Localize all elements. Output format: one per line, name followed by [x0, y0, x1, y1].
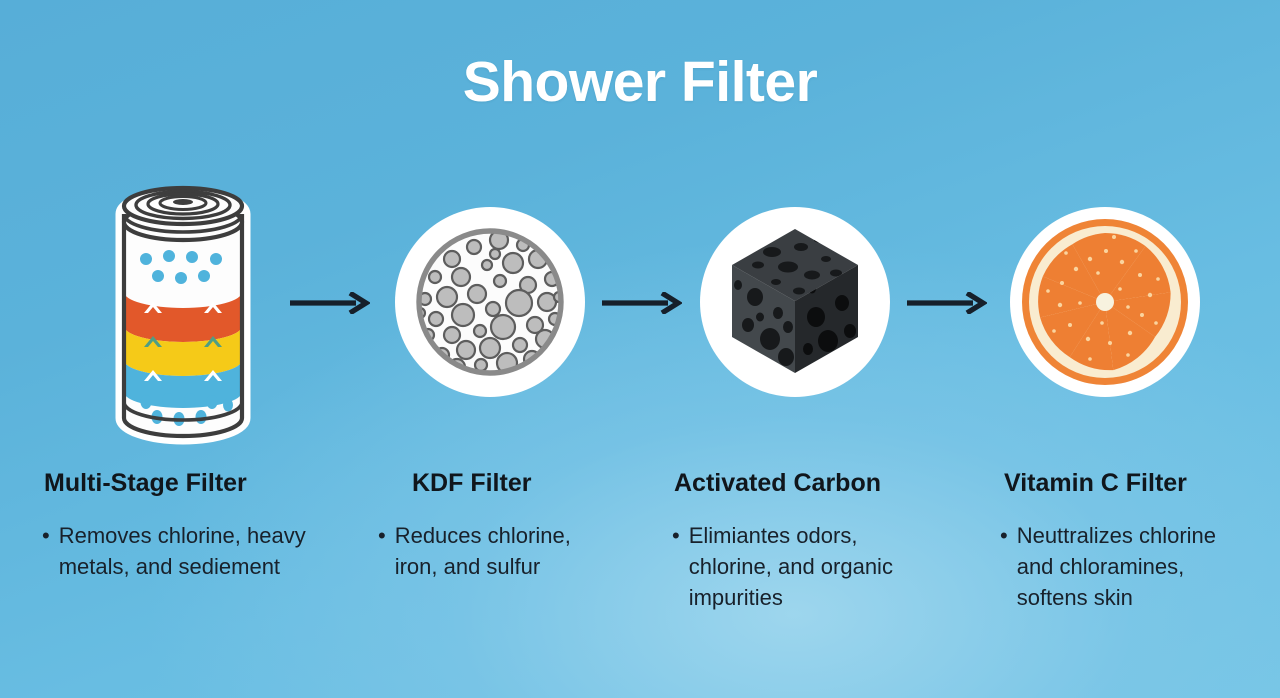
stage-bullet-text: Elimiantes odors, chlorine, and organic … [689, 520, 929, 614]
stage-icon-kdf-filter [370, 180, 610, 450]
stage-text-row: Multi-Stage Filter • Removes chlorine, h… [0, 470, 1280, 670]
stage-bullet: • Removes chlorine, heavy metals, and se… [42, 520, 342, 582]
stage-heading: KDF Filter [412, 470, 670, 498]
stage-heading: Vitamin C Filter [1004, 470, 1280, 498]
stage-text-vitamin-c-filter: Vitamin C Filter • Neuttralizes chlorine… [1000, 470, 1280, 613]
stage-bullet: • Neuttralizes chlorine and chloramines,… [1000, 520, 1280, 614]
stage-icon-row [0, 180, 1280, 450]
stage-heading: Activated Carbon [674, 470, 972, 498]
bullet-marker-icon: • [42, 520, 50, 551]
stage-icon-activated-carbon [675, 180, 915, 450]
multi-stage-filter-cartridge-icon [108, 174, 258, 456]
bullet-marker-icon: • [1000, 520, 1008, 551]
page-title: Shower Filter [0, 54, 1280, 111]
stage-bullet: • Reduces chlorine, iron, and sulfur [378, 520, 670, 582]
stage-text-kdf-filter: KDF Filter • Reduces chlorine, iron, and… [370, 470, 670, 582]
stage-bullet-text: Removes chlorine, heavy metals, and sedi… [59, 520, 321, 582]
bullet-marker-icon: • [672, 520, 680, 551]
stage-icon-vitamin-c-filter [985, 180, 1225, 450]
kdf-granule-sphere-icon [395, 207, 585, 397]
stage-bullet: • Elimiantes odors, chlorine, and organi… [672, 520, 972, 614]
flow-arrow-1 [288, 292, 370, 314]
bullet-marker-icon: • [378, 520, 386, 551]
stage-bullet-text: Reduces chlorine, iron, and sulfur [395, 520, 575, 582]
flow-arrow-3 [905, 292, 987, 314]
stage-bullet-text: Neuttralizes chlorine and chloramines, s… [1017, 520, 1247, 614]
orange-slice-icon [1010, 207, 1200, 397]
stage-text-multi-stage-filter: Multi-Stage Filter • Removes chlorine, h… [42, 470, 342, 582]
stage-heading: Multi-Stage Filter [44, 470, 342, 498]
shower-filter-infographic: Shower Filter [0, 0, 1280, 698]
flow-arrow-2 [600, 292, 682, 314]
activated-carbon-cube-icon [700, 207, 890, 397]
stage-icon-multi-stage-filter [60, 180, 300, 450]
stage-text-activated-carbon: Activated Carbon • Elimiantes odors, chl… [672, 470, 972, 613]
